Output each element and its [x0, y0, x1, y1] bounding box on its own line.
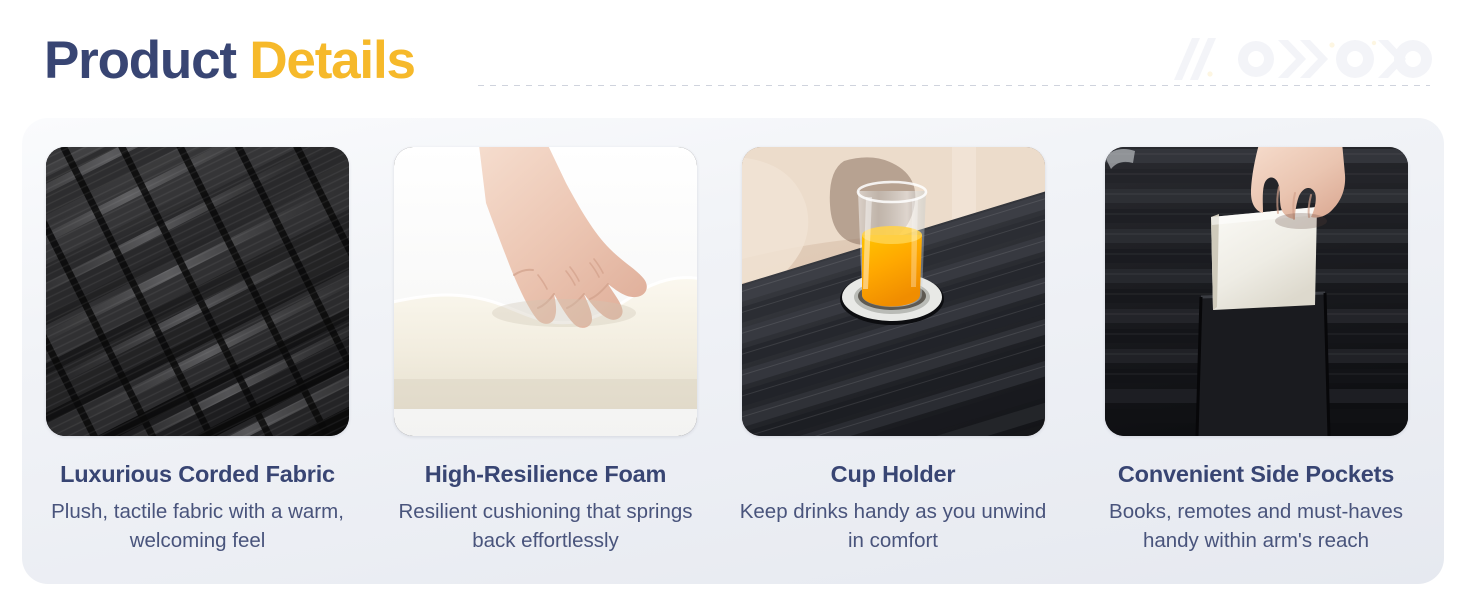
brand-watermark-logo — [1166, 28, 1436, 90]
feature-card-description: Books, remotes and must-haves handy with… — [1096, 497, 1416, 555]
foam-hand-press-photo — [394, 147, 697, 436]
page-title: Product Details — [44, 34, 415, 87]
feature-card-title: Luxurious Corded Fabric — [60, 462, 335, 488]
page-header: Product Details — [0, 0, 1464, 120]
product-details-panel: Luxurious Corded Fabric Plush, tactile f… — [22, 118, 1444, 584]
page-title-accent: Details — [249, 31, 414, 90]
feature-card-description: Keep drinks handy as you unwind in comfo… — [733, 497, 1053, 555]
feature-card-grid: Luxurious Corded Fabric Plush, tactile f… — [22, 118, 1444, 584]
feature-card[interactable]: Luxurious Corded Fabric Plush, tactile f… — [22, 118, 373, 584]
side-pocket-book-photo — [1105, 147, 1408, 436]
page-title-primary: Product — [44, 31, 236, 90]
feature-card-title: Cup Holder — [831, 462, 956, 488]
cup-holder-orange-juice-photo — [742, 147, 1045, 436]
title-dashed-divider — [478, 84, 1430, 86]
feature-card-description: Resilient cushioning that springs back e… — [386, 497, 706, 555]
corded-fabric-closeup-photo — [46, 147, 349, 436]
feature-card[interactable]: High-Resilience Foam Resilient cushionin… — [373, 118, 718, 584]
feature-card[interactable]: Cup Holder Keep drinks handy as you unwi… — [718, 118, 1068, 584]
feature-card-description: Plush, tactile fabric with a warm, welco… — [38, 497, 358, 555]
feature-card-title: High-Resilience Foam — [425, 462, 667, 488]
feature-card-title: Convenient Side Pockets — [1118, 462, 1394, 488]
feature-card[interactable]: Convenient Side Pockets Books, remotes a… — [1068, 118, 1444, 584]
